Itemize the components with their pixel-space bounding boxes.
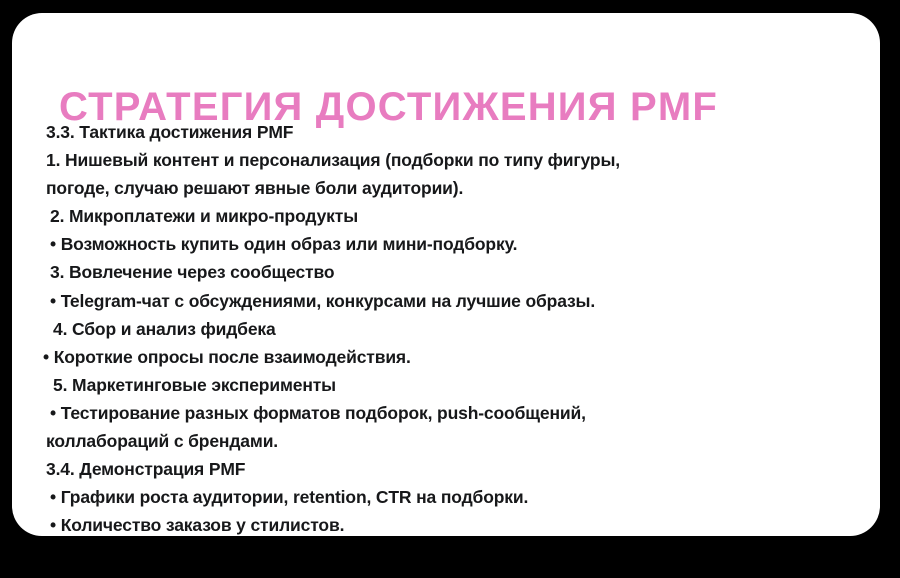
body-line: • Тестирование разных форматов подборок,…	[46, 399, 846, 427]
body-line: 5. Маркетинговые эксперименты	[46, 371, 846, 399]
body-line: • Графики роста аудитории, retention, CT…	[46, 483, 846, 511]
body-line: 3.4. Демонстрация PMF	[46, 455, 846, 483]
body-line: 4. Сбор и анализ фидбека	[46, 315, 846, 343]
body-line: • Количество заказов у стилистов.	[46, 511, 846, 536]
body-line: 1. Нишевый контент и персонализация (под…	[46, 146, 846, 174]
slide-card: СТРАТЕГИЯ ДОСТИЖЕНИЯ PMF 3.3. Тактика до…	[12, 13, 880, 536]
body-line: коллабораций с брендами.	[46, 427, 846, 455]
slide-frame: СТРАТЕГИЯ ДОСТИЖЕНИЯ PMF 3.3. Тактика до…	[0, 0, 900, 578]
body-line: • Telegram-чат с обсуждениями, конкурсам…	[46, 287, 846, 315]
slide-body: 3.3. Тактика достижения PMF 1. Нишевый к…	[46, 118, 846, 536]
body-line: погоде, случаю решают явные боли аудитор…	[46, 174, 846, 202]
body-line: 3. Вовлечение через сообщество	[46, 258, 846, 286]
body-line: • Короткие опросы после взаимодействия.	[43, 343, 846, 371]
body-line: 2. Микроплатежи и микро-продукты	[46, 202, 846, 230]
body-line: • Возможность купить один образ или мини…	[46, 230, 846, 258]
body-line: 3.3. Тактика достижения PMF	[46, 118, 846, 146]
